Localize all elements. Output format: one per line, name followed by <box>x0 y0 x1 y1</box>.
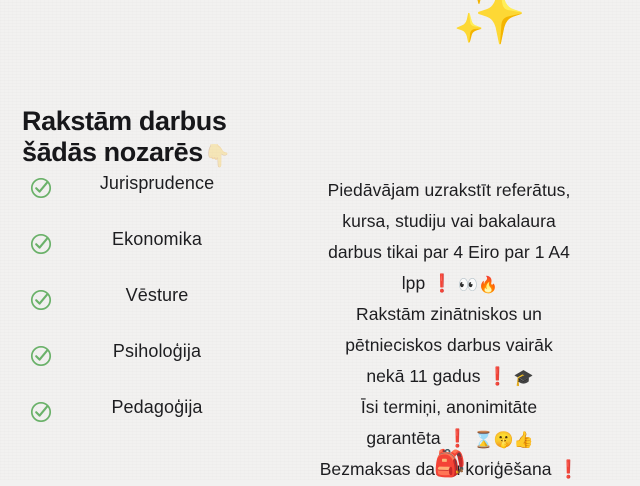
promo-line-text: Rakstām zinātniskos un <box>356 304 542 324</box>
promo-line: nekā 11 gadus ❗ 🎓 <box>278 362 622 393</box>
promo-line-text: Īsi termiņi, anonimitāte <box>361 397 537 417</box>
list-item: Psiholoģija <box>0 340 262 396</box>
promo-text-block: Piedāvājam uzrakstīt referātus, kursa, s… <box>278 176 622 486</box>
promo-line: pētnieciskos darbus vairāk <box>278 331 622 362</box>
sparkles-icon: ✨ <box>452 0 527 44</box>
subject-list: Jurisprudence Ekonomika Vēsture <box>0 172 262 452</box>
promo-line: Īsi termiņi, anonimitāte <box>278 393 622 424</box>
promo-line-text: darbus tikai par 4 Eiro par 1 A4 <box>328 242 570 262</box>
promo-line: Rakstām zinātniskos un <box>278 300 622 331</box>
promo-line-emoji: 🎓 <box>509 370 533 387</box>
list-item: Vēsture <box>0 284 262 340</box>
page-title-line-2: šādās nozarēs <box>22 137 203 167</box>
exclamation-mark <box>537 397 539 417</box>
promo-line: darbus tikai par 4 Eiro par 1 A4 <box>278 238 622 269</box>
exclamation-mark <box>570 180 572 200</box>
promo-line: kursa, studiju vai bakalaura <box>278 207 622 238</box>
promo-line-emoji: 👀🔥 <box>454 277 498 294</box>
promo-line: lpp ❗ 👀🔥 <box>278 269 622 300</box>
check-circle-icon <box>30 233 52 255</box>
pointing-down-hand-icon: 👇 <box>204 143 231 168</box>
exclamation-mark: ❗ <box>446 428 470 448</box>
exclamation-mark <box>556 211 558 231</box>
backpack-icon: 🎒 <box>278 450 622 476</box>
list-item: Ekonomika <box>0 228 262 284</box>
promo-line-text: garantēta <box>366 428 445 448</box>
promo-line-text: nekā 11 gadus <box>366 366 485 386</box>
promo-line-text: lpp <box>402 273 430 293</box>
exclamation-mark <box>542 304 544 324</box>
check-circle-icon <box>30 401 52 423</box>
check-circle-icon <box>30 345 52 367</box>
page-title-line-1: Rakstām darbus <box>22 106 226 136</box>
exclamation-mark <box>553 335 555 355</box>
exclamation-mark: ❗ <box>485 366 509 386</box>
promo-line-emoji: ⌛🤫👍 <box>469 432 533 449</box>
promo-line: Piedāvājam uzrakstīt referātus, <box>278 176 622 207</box>
promo-line-text: Piedāvājam uzrakstīt referātus, <box>328 180 571 200</box>
exclamation-mark: ❗ <box>430 273 454 293</box>
promotional-poster: ✨ Rakstām darbus šādās nozarēs👇 Jurispru… <box>0 0 640 480</box>
list-item: Pedagoģija <box>0 396 262 452</box>
check-circle-icon <box>30 289 52 311</box>
list-item: Jurisprudence <box>0 172 262 228</box>
check-circle-icon <box>30 177 52 199</box>
promo-line-text: kursa, studiju vai bakalaura <box>342 211 555 231</box>
page-title: Rakstām darbus šādās nozarēs👇 <box>22 106 292 171</box>
exclamation-mark <box>570 242 572 262</box>
promo-line-text: pētnieciskos darbus vairāk <box>345 335 553 355</box>
